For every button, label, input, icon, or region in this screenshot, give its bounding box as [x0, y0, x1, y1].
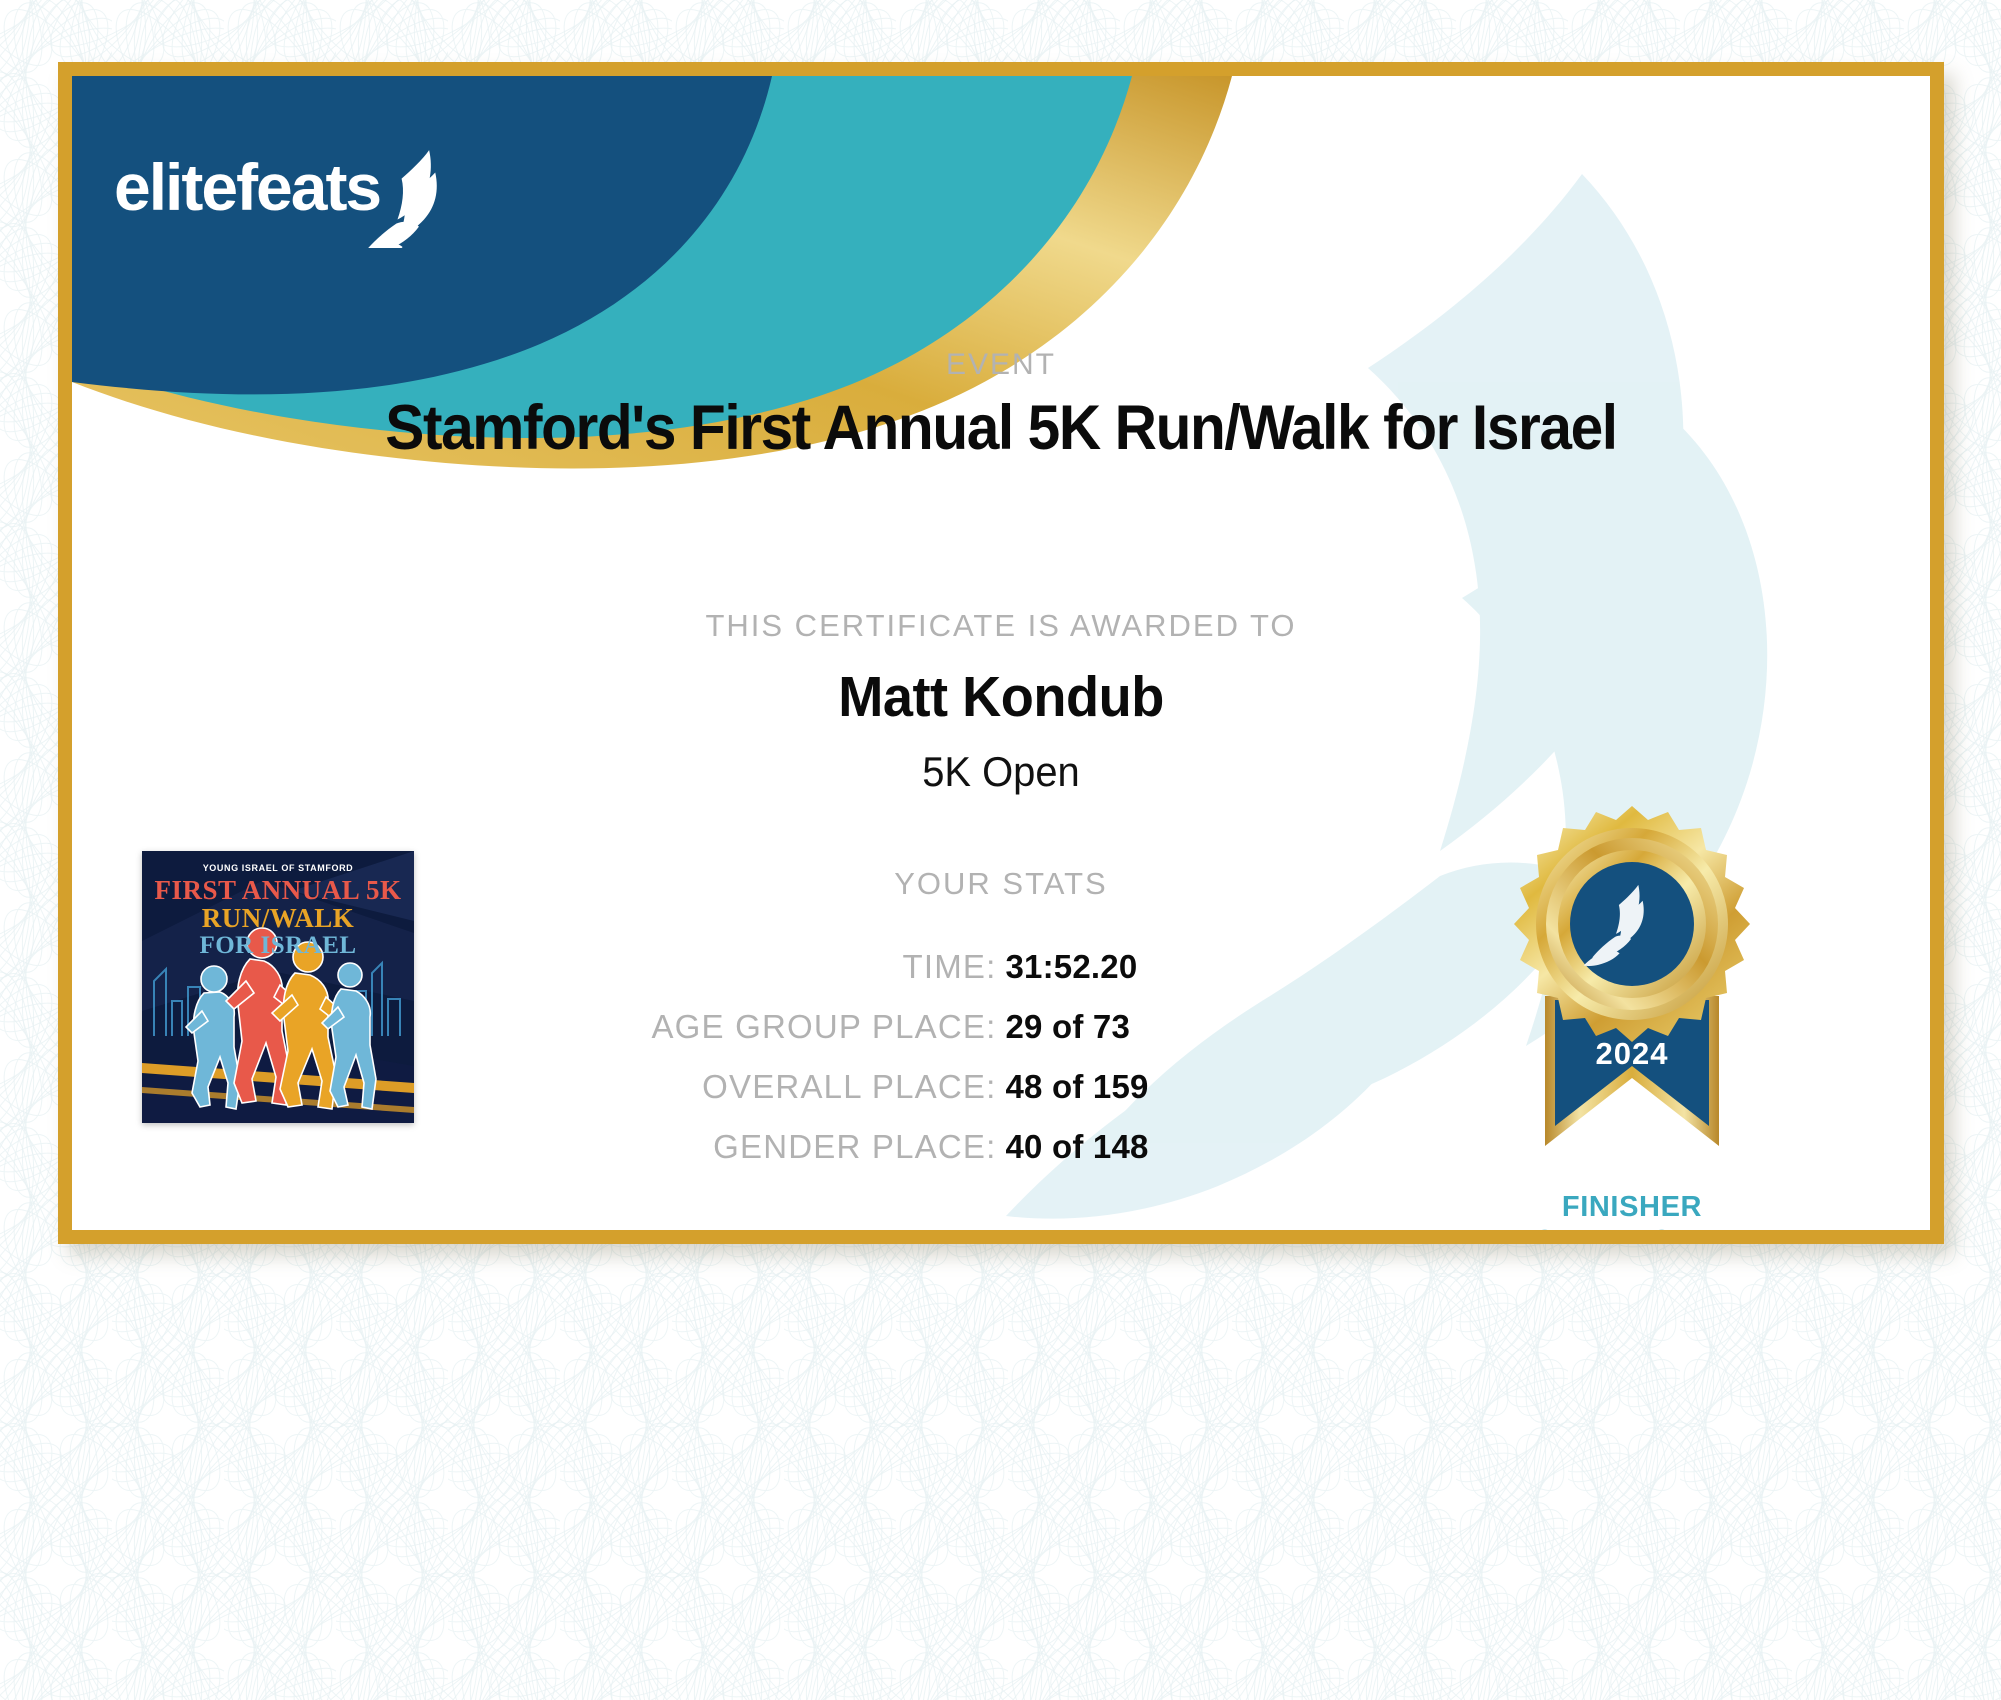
stat-value: 48 of 159: [1006, 1068, 1511, 1106]
awarded-to-label: THIS CERTIFICATE IS AWARDED TO: [72, 608, 1930, 644]
poster-line3: FOR ISRAEL: [199, 932, 356, 959]
poster-org: YOUNG ISRAEL OF STAMFORD: [203, 863, 354, 873]
event-title: Stamford's First Annual 5K Run/Walk for …: [137, 392, 1865, 464]
division-name: 5K Open: [118, 748, 1883, 796]
stat-value: 40 of 148: [1006, 1128, 1511, 1166]
stat-label: GENDER PLACE:: [492, 1128, 1006, 1166]
finisher-caption-line1: FINISHER: [1467, 1190, 1797, 1224]
stat-value: 29 of 73: [1006, 1008, 1511, 1046]
finisher-caption-line2: CERTIFICATE: [1467, 1224, 1797, 1230]
poster-line1: FIRST ANNUAL 5K: [154, 875, 401, 905]
stat-label: OVERALL PLACE:: [492, 1068, 1006, 1106]
certificate-frame: elitefeats EVENT Stamford's First Annual…: [58, 62, 1944, 1244]
elitefeats-logo: elitefeats: [114, 138, 444, 248]
stat-label: TIME:: [492, 948, 1006, 986]
finisher-caption: FINISHER CERTIFICATE: [1467, 1190, 1797, 1230]
stat-label: AGE GROUP PLACE:: [492, 1008, 1006, 1046]
logo-wordmark: elitefeats: [114, 150, 380, 224]
recipient-name: Matt Kondub: [118, 664, 1883, 730]
certificate-body: elitefeats EVENT Stamford's First Annual…: [72, 76, 1930, 1230]
certificate-page: elitefeats EVENT Stamford's First Annual…: [0, 0, 2001, 1700]
poster-line2: RUN/WALK: [202, 903, 355, 933]
event-label: EVENT: [72, 348, 1930, 382]
stat-value: 31:52.20: [1006, 948, 1511, 986]
event-poster-image: YOUNG ISRAEL OF STAMFORD FIRST ANNUAL 5K…: [142, 851, 414, 1123]
finisher-medal: 2024: [1467, 796, 1797, 1230]
medal-art: 2024: [1467, 796, 1797, 1186]
